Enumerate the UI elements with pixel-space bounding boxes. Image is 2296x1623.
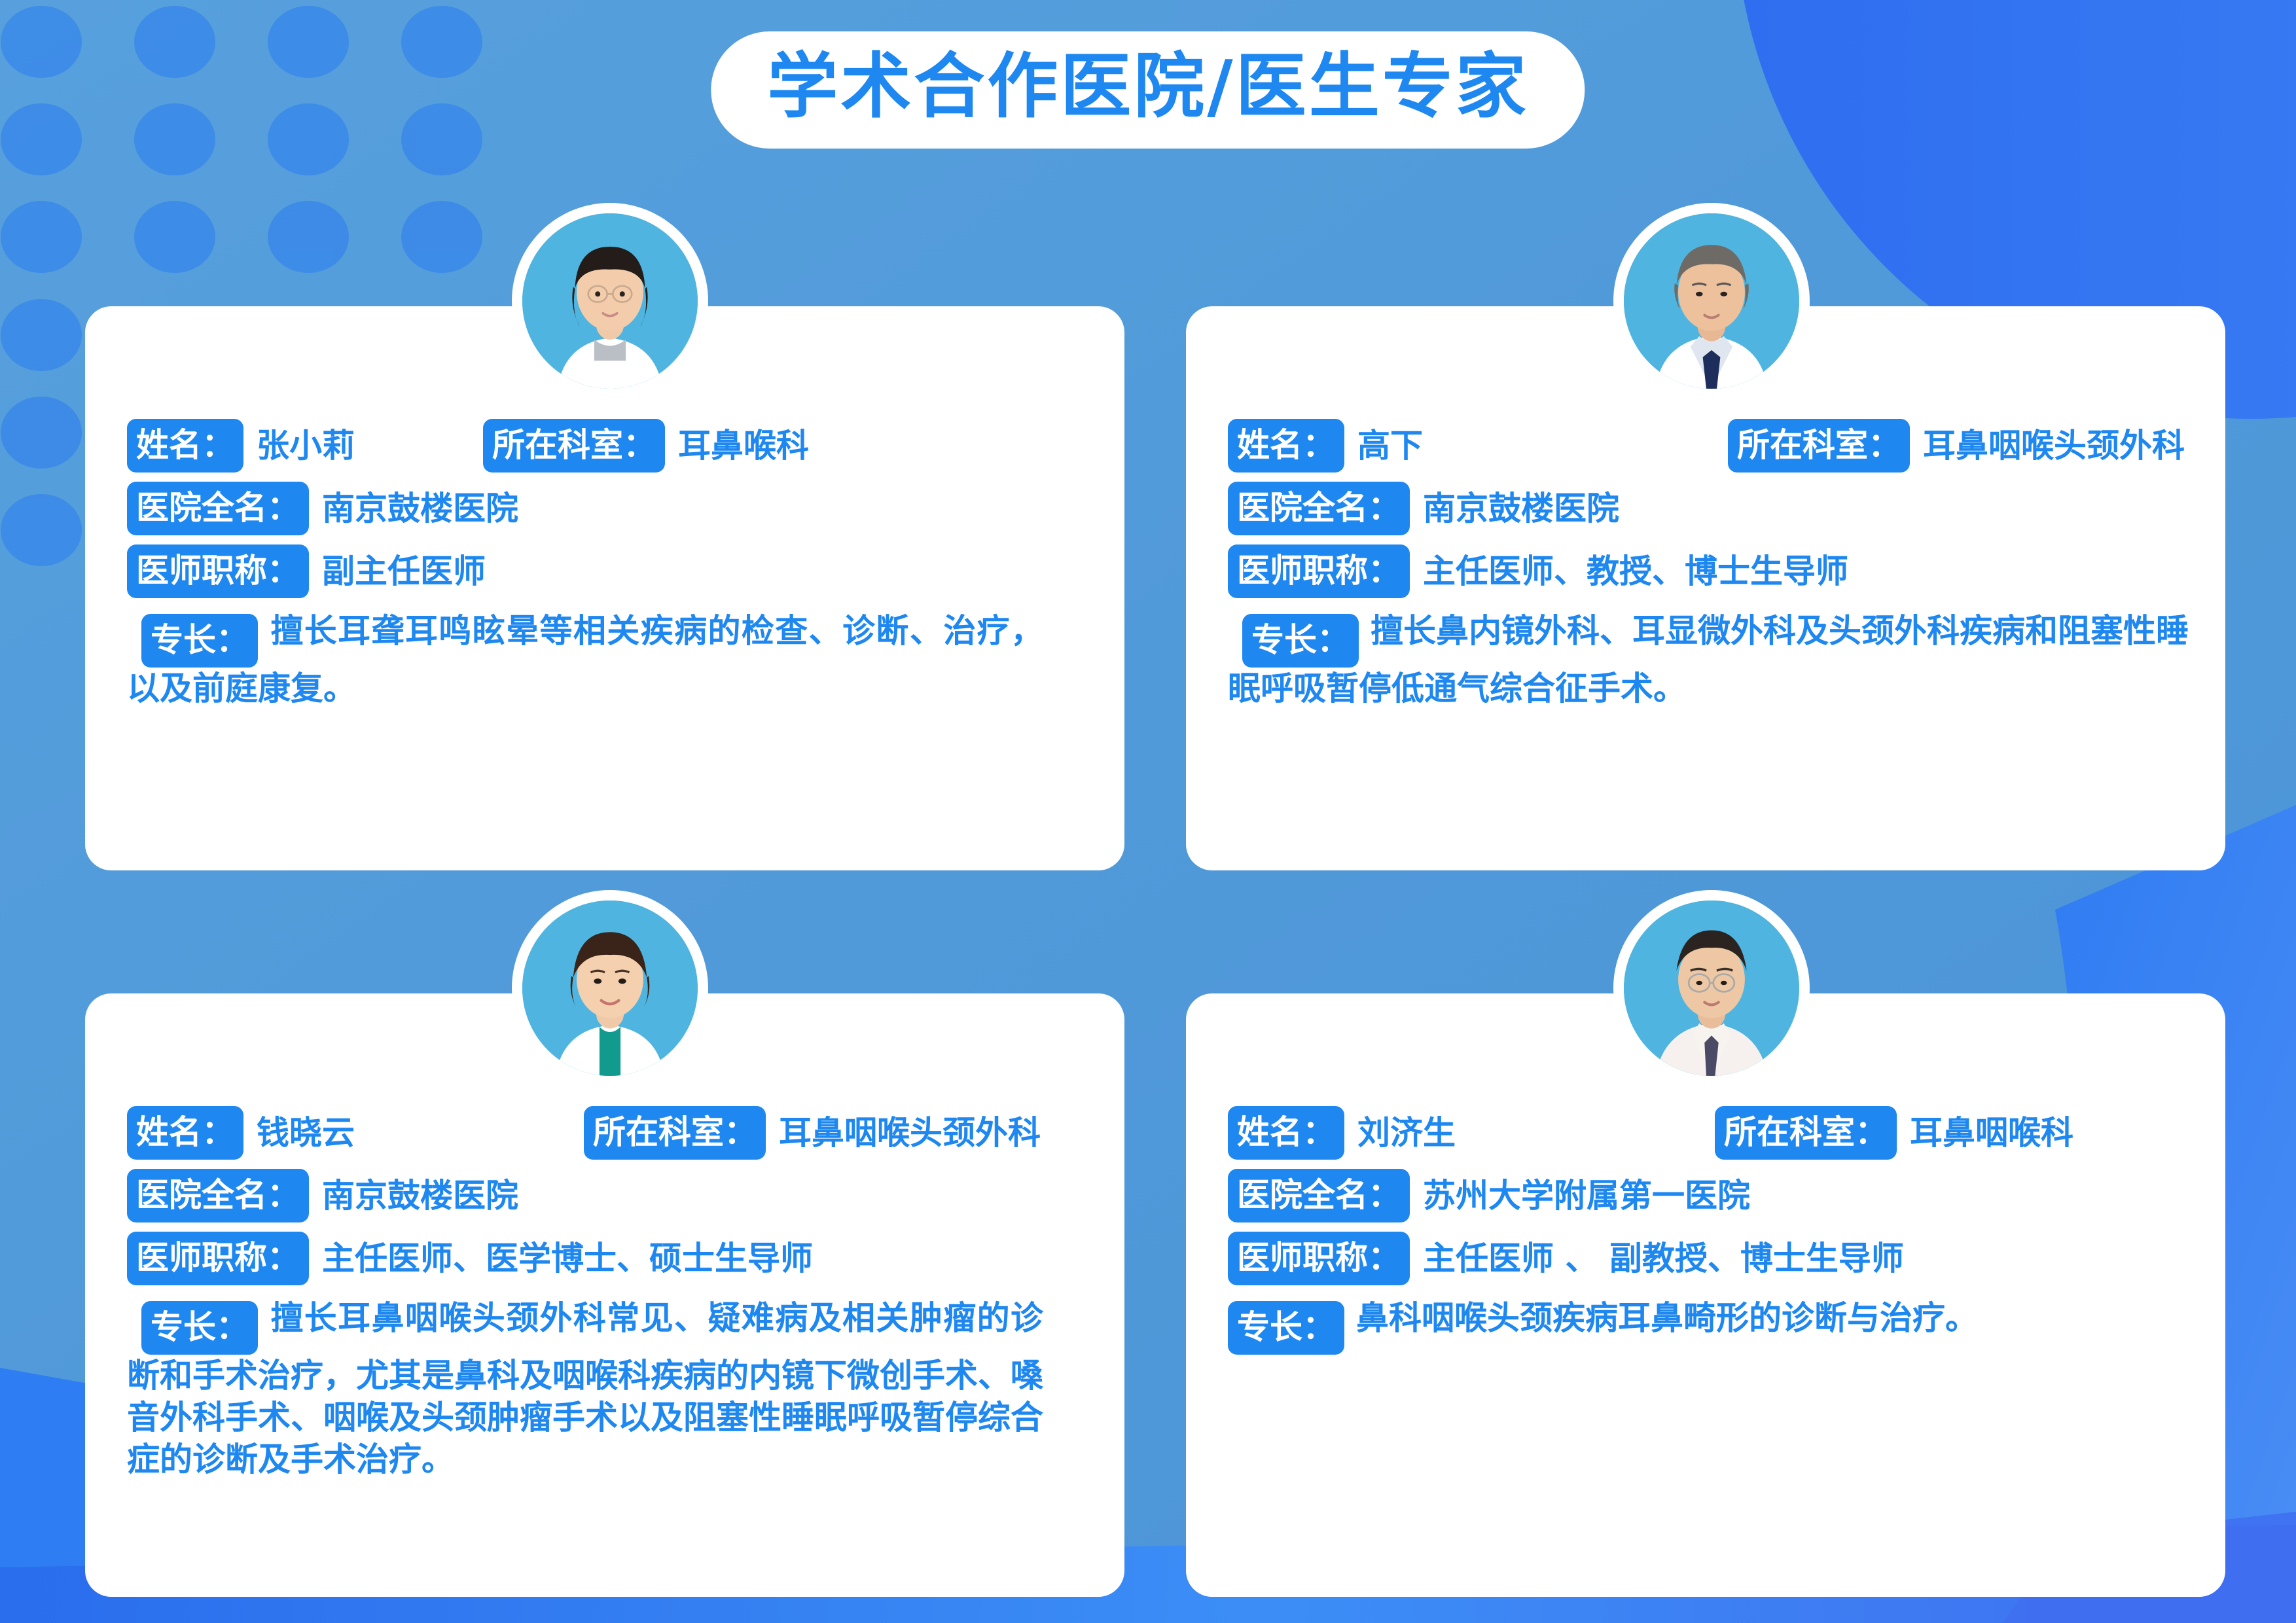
name-and-department-row: 姓名： 高下 所在科室： 耳鼻咽喉头颈外科	[1228, 419, 2191, 473]
department-value: 耳鼻咽喉头颈外科	[779, 1116, 1041, 1150]
name-field: 姓名： 张小莉	[127, 419, 355, 473]
title-field: 医师职称： 主任医师、医学博士、硕士生导师	[127, 1232, 1090, 1285]
title-value: 主任医师、教授、博士生导师	[1423, 554, 1848, 589]
hospital-field: 医院全名： 苏州大学附属第一医院	[1228, 1169, 2191, 1222]
doctor-info-block: 姓名： 刘济生 所在科室： 耳鼻咽喉科 医院全名： 苏州大学附属第一医院 医师职…	[1186, 1106, 2225, 1355]
specialty-label: 专长：	[141, 1301, 258, 1355]
avatar	[512, 203, 708, 399]
name-and-department-row: 姓名： 张小莉 所在科室： 耳鼻喉科	[127, 419, 1090, 473]
specialty-label: 专长：	[1242, 614, 1359, 668]
doctor-info-block: 姓名： 张小莉 所在科室： 耳鼻喉科 医院全名： 南京鼓楼医院 医师职称： 副主…	[85, 419, 1124, 709]
department-label: 所在科室：	[1728, 419, 1910, 473]
title-value: 主任医师、医学博士、硕士生导师	[322, 1241, 813, 1276]
title-label: 医师职称：	[1228, 544, 1410, 598]
specialty-label: 专长：	[141, 614, 258, 668]
title-label: 医师职称：	[127, 544, 309, 598]
name-value: 张小莉	[257, 429, 355, 463]
name-field: 姓名： 高下	[1228, 419, 1423, 473]
department-field: 所在科室： 耳鼻咽喉头颈外科	[1728, 419, 2185, 473]
hospital-label: 医院全名：	[127, 482, 309, 535]
name-and-department-row: 姓名： 刘济生 所在科室： 耳鼻咽喉科	[1228, 1106, 2191, 1160]
doctor-portrait-qian-xiaoyun	[522, 901, 698, 1076]
name-label: 姓名：	[127, 1106, 243, 1160]
title-field: 医师职称： 副主任医师	[127, 544, 1090, 598]
name-label: 姓名：	[127, 419, 243, 473]
page-title-pill: 学术合作医院/医生专家	[711, 31, 1585, 149]
portrait-illustration	[1624, 213, 1799, 389]
title-field: 医师职称： 主任医师、教授、博士生导师	[1228, 544, 2191, 598]
name-label: 姓名：	[1228, 419, 1344, 473]
hospital-field: 医院全名： 南京鼓楼医院	[1228, 482, 2191, 535]
hospital-value: 南京鼓楼医院	[322, 491, 518, 526]
hospital-value: 南京鼓楼医院	[1423, 491, 1619, 526]
department-label: 所在科室：	[483, 419, 665, 473]
name-field: 姓名： 刘济生	[1228, 1106, 1456, 1160]
specialty-field: 专长：擅长耳鼻咽喉头颈外科常见、疑难病及相关肿瘤的诊断和手术治疗，尤其是鼻科及咽…	[127, 1297, 1043, 1480]
hospital-field: 医院全名： 南京鼓楼医院	[127, 1169, 1090, 1222]
name-and-department-row: 姓名： 钱晓云 所在科室： 耳鼻咽喉头颈外科	[127, 1106, 1090, 1160]
portrait-illustration	[1624, 901, 1799, 1076]
doctor-portrait-zhang-xiaoli	[522, 213, 698, 389]
hospital-field: 医院全名： 南京鼓楼医院	[127, 482, 1090, 535]
title-label: 医师职称：	[1228, 1232, 1410, 1285]
title-value: 副主任医师	[322, 554, 486, 589]
avatar	[1613, 890, 1810, 1086]
doctor-info-block: 姓名： 钱晓云 所在科室： 耳鼻咽喉头颈外科 医院全名： 南京鼓楼医院 医师职称…	[85, 1106, 1124, 1480]
department-value: 耳鼻咽喉科	[1910, 1116, 2073, 1150]
doctor-portrait-gao-xia	[1624, 213, 1799, 389]
department-label: 所在科室：	[1715, 1106, 1897, 1160]
specialty-value: 擅长耳鼻咽喉头颈外科常见、疑难病及相关肿瘤的诊断和手术治疗，尤其是鼻科及咽喉科疾…	[127, 1299, 1043, 1478]
doctor-info-block: 姓名： 高下 所在科室： 耳鼻咽喉头颈外科 医院全名： 南京鼓楼医院 医师职称：…	[1186, 419, 2225, 709]
hospital-label: 医院全名：	[1228, 1169, 1410, 1222]
avatar	[1613, 203, 1810, 399]
department-field: 所在科室： 耳鼻咽喉头颈外科	[584, 1106, 1041, 1160]
name-field: 姓名： 钱晓云	[127, 1106, 355, 1160]
doctor-portrait-liu-jisheng	[1624, 901, 1799, 1076]
department-value: 耳鼻咽喉头颈外科	[1923, 429, 2185, 463]
title-label: 医师职称：	[127, 1232, 309, 1285]
department-field: 所在科室： 耳鼻喉科	[483, 419, 809, 473]
specialty-label: 专长：	[1228, 1301, 1344, 1355]
name-value: 刘济生	[1357, 1116, 1456, 1150]
portrait-illustration	[522, 901, 698, 1076]
department-field: 所在科室： 耳鼻咽喉科	[1715, 1106, 2073, 1160]
name-label: 姓名：	[1228, 1106, 1344, 1160]
title-field: 医师职称： 主任医师 、 副教授、博士生导师	[1228, 1232, 2191, 1285]
specialty-value: 擅长鼻内镜外科、耳显微外科及头颈外科疾病和阻塞性睡眠呼吸暂停低通气综合征手术。	[1228, 612, 2189, 707]
specialty-field: 专长：鼻科咽喉头颈疾病耳鼻畸形的诊断与治疗。	[1228, 1297, 2189, 1355]
name-value: 钱晓云	[257, 1116, 355, 1150]
specialty-field: 专长：擅长鼻内镜外科、耳显微外科及头颈外科疾病和阻塞性睡眠呼吸暂停低通气综合征手…	[1228, 610, 2189, 709]
portrait-illustration	[522, 213, 698, 389]
hospital-label: 医院全名：	[1228, 482, 1410, 535]
department-value: 耳鼻喉科	[678, 429, 809, 463]
department-label: 所在科室：	[584, 1106, 766, 1160]
specialty-field: 专长：擅长耳聋耳鸣眩晕等相关疾病的检查、诊断、治疗，以及前庭康复。	[127, 610, 1043, 709]
name-value: 高下	[1357, 429, 1423, 463]
hospital-label: 医院全名：	[127, 1169, 309, 1222]
hospital-value: 南京鼓楼医院	[322, 1179, 518, 1213]
specialty-value: 擅长耳聋耳鸣眩晕等相关疾病的检查、诊断、治疗，以及前庭康复。	[127, 612, 1043, 707]
page-title: 学术合作医院/医生专家	[767, 48, 1528, 126]
specialty-value: 鼻科咽喉头颈疾病耳鼻畸形的诊断与治疗。	[1356, 1299, 1978, 1337]
avatar	[512, 890, 708, 1086]
title-value: 主任医师 、 副教授、博士生导师	[1423, 1241, 1904, 1276]
hospital-value: 苏州大学附属第一医院	[1423, 1179, 1750, 1213]
